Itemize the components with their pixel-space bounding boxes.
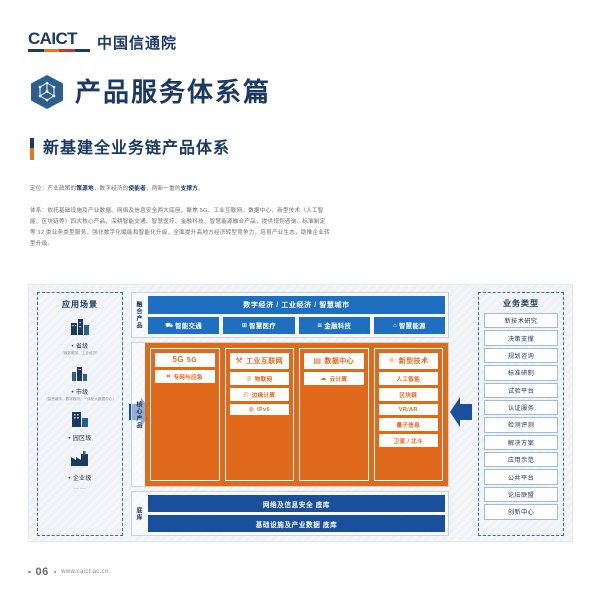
core-band-label: 核心产品 [132, 343, 145, 486]
scenario-label: • 园区级 [68, 433, 91, 442]
core-product-title: 新型技术 [399, 356, 429, 366]
base-band-label: 底库 [132, 492, 145, 535]
core-subitem-4-5[interactable]: 卫星 / 北斗 [379, 434, 439, 447]
page-number: 06 [36, 566, 49, 578]
network-icon: ⌗ [167, 374, 171, 380]
business-types-title: 业务类型 [503, 298, 539, 309]
fusion-button-1[interactable]: ⛟智能交通 [148, 317, 219, 334]
positioning-run-2: ，数字经济的 [94, 186, 129, 192]
fusion-products-band: 融合产品 数字经济 / 工业经济 / 智慧城市 ⛟智能交通⊞智慧医疗≋金融科技⌂… [131, 292, 449, 338]
base-layer-bar-2: 基础设施及产业数据 底库 [148, 515, 445, 532]
finance-icon: ≋ [317, 323, 322, 329]
business-type-item-10[interactable]: 公共平台 [484, 469, 558, 484]
core-subitem-label: VR/AR [399, 407, 418, 413]
business-type-item-3[interactable]: 规划咨询 [484, 348, 558, 363]
core-subitem-label: 区块链 [399, 391, 417, 399]
core-product-header[interactable]: ▤数据中心 [304, 353, 364, 369]
core-product-title: 数据中心 [324, 356, 354, 366]
logo-underline [28, 49, 90, 52]
core-subitem-label: 边缘计算 [252, 391, 276, 399]
section-accent-bar [30, 138, 34, 160]
hospital-icon: ⊞ [242, 323, 247, 329]
positioning-run-6: 。 [198, 186, 204, 192]
tech-node-icon: ⚛ [388, 357, 396, 365]
factory-icon [70, 449, 90, 471]
scenario-note: （政务服务、工业经济） [41, 351, 119, 356]
hexagon-cube-icon [30, 74, 64, 110]
fusion-button-label: 智能交通 [175, 321, 202, 330]
core-subitem-label: 人工智能 [396, 375, 420, 383]
core-subitem-label: 物联网 [255, 375, 273, 383]
paragraph-system: 体系：依托基础设施及产业数据、网络及信息安全两大底座，聚焦 5G、工业互联网、数… [30, 206, 330, 250]
fusion-button-label: 智慧能源 [399, 321, 426, 330]
globe-icon: ◍ [249, 407, 255, 413]
footer-url: www.caict.ac.cn [61, 569, 108, 575]
bar-chart-building-icon [70, 363, 90, 385]
section-title: 新基建全业务链产品体系 [43, 138, 230, 160]
product-system-diagram: 应用场景 • 省级（政务服务、工业经济）• 市级（智慧城市、数字政府、一体化大数… [28, 284, 573, 542]
core-product-column-2: ⚒工业互联网◎物联网◴边缘计算◍IPv6 [225, 348, 295, 481]
fusion-buttons: ⛟智能交通⊞智慧医疗≋金融科技⌂智慧能源 [148, 317, 445, 334]
cloud-icon: ☁ [320, 376, 326, 382]
scenario-label: • 市级 [72, 387, 89, 396]
brand-chinese-name: 中国信通院 [97, 36, 177, 52]
city-buildings-icon [70, 317, 90, 339]
business-type-item-9[interactable]: 应用示范 [484, 452, 558, 467]
fusion-button-4[interactable]: ⌂智慧能源 [374, 317, 445, 334]
robot-arm-icon: ⚒ [235, 357, 243, 365]
scenario-note: （智慧城市、数字政府、一体化大数据中心） [41, 397, 119, 402]
page-title: 产品服务体系篇 [75, 79, 271, 105]
core-subitem-2-1[interactable]: ◎物联网 [230, 372, 290, 385]
scenarios-more: …… [73, 485, 87, 491]
caict-logo-mark: CAICT [28, 30, 90, 52]
core-product-column-3: ▤数据中心☁云计算 [299, 348, 369, 481]
core-product-column-4: ⚛新型技术人工智能区块链VR/AR量子信息卫星 / 北斗 [374, 348, 444, 481]
footer-dot-right-icon [54, 571, 57, 574]
core-subitem-label: 量子信息 [396, 421, 420, 429]
business-type-item-6[interactable]: 认证服务 [484, 400, 558, 415]
core-product-title: 5G [187, 357, 197, 364]
fusion-band-label: 融合产品 [132, 293, 145, 337]
business-type-item-4[interactable]: 标准研制 [484, 365, 558, 380]
scenario-item-3[interactable]: • 园区级 [68, 409, 91, 442]
edge-icon: ◴ [243, 392, 249, 398]
footer-dot-left-icon [28, 571, 31, 574]
core-subitem-label: 卫星 / 北斗 [394, 437, 423, 445]
positioning-run-1: 策源地 [76, 186, 93, 192]
core-subitem-label: 专网与应急 [173, 373, 202, 381]
center-stack: 融合产品 数字经济 / 工业经济 / 智慧城市 ⛟智能交通⊞智慧医疗≋金融科技⌂… [131, 292, 449, 536]
fusion-headline: 数字经济 / 工业经济 / 智慧城市 [148, 296, 445, 314]
business-type-item-2[interactable]: 决策支撑 [484, 330, 558, 345]
core-subitem-label: IPv6 [257, 407, 270, 413]
scenario-item-2[interactable]: • 市级（智慧城市、数字政府、一体化大数据中心） [41, 363, 119, 402]
core-subitem-4-4[interactable]: 量子信息 [379, 418, 439, 431]
fusion-button-3[interactable]: ≋金融科技 [299, 317, 370, 334]
base-layer-band: 底库 网络及信息安全 底库基础设施及产业数据 底库 [131, 491, 449, 536]
positioning-run-4: ，两新一重的 [146, 186, 181, 192]
base-layer-bar-1: 网络及信息安全 底库 [148, 495, 445, 512]
scenario-label: • 企业级 [68, 473, 91, 482]
scenario-label: • 省级 [72, 341, 89, 350]
business-type-item-5[interactable]: 试验平台 [484, 383, 558, 398]
core-subitem-4-3[interactable]: VR/AR [379, 404, 439, 415]
fusion-button-label: 金融科技 [324, 321, 351, 330]
core-subitem-2-3[interactable]: ◍IPv6 [230, 404, 290, 415]
scenario-item-4[interactable]: • 企业级 [68, 449, 91, 482]
page-root: CAICT 中国信通院 [0, 0, 600, 600]
page-title-row: 产品服务体系篇 [30, 74, 271, 110]
business-type-item-8[interactable]: 解决方案 [484, 435, 558, 450]
energy-icon: ⌂ [393, 323, 397, 329]
business-type-item-11[interactable]: 论坛联盟 [484, 487, 558, 502]
core-products-band: 核心产品 5G5G⌗专网与应急⚒工业互联网◎物联网◴边缘计算◍IPv6▤数据中心… [131, 342, 449, 487]
arrow-left-icon [450, 395, 472, 429]
core-product-header[interactable]: ⚛新型技术 [379, 353, 439, 369]
application-scenarios-panel: 应用场景 • 省级（政务服务、工业经济）• 市级（智慧城市、数字政府、一体化大数… [37, 292, 123, 536]
core-product-title: 工业互联网 [246, 356, 283, 366]
brand-acronym: CAICT [28, 30, 90, 47]
positioning-run-3: 使能者 [129, 186, 146, 192]
car-icon: ⛟ [165, 323, 173, 329]
core-subitem-3-1[interactable]: ☁云计算 [304, 372, 364, 385]
paragraph-positioning: 定位：产业政策的策源地，数字经济的使能者，两新一重的支撑方。 [30, 184, 330, 195]
business-type-item-12[interactable]: 创新中心 [484, 504, 558, 519]
scenarios-title: 应用场景 [62, 299, 98, 310]
business-type-item-7[interactable]: 检测评测 [484, 417, 558, 432]
server-icon: ▤ [313, 357, 321, 365]
business-type-item-1[interactable]: 新技术研究 [484, 313, 558, 328]
system-run-0: 体系：依托基础设施及产业数据、网络及信息安全两大底座，聚焦 5G、工业互联网、数… [30, 208, 330, 247]
5g-icon: 5G [172, 356, 183, 364]
core-subitem-1-1[interactable]: ⌗专网与应急 [155, 370, 215, 383]
fusion-button-2[interactable]: ⊞智慧医疗 [223, 317, 294, 334]
positioning-run-5: 支撑方 [181, 186, 198, 192]
core-subitem-4-2[interactable]: 区块链 [379, 388, 439, 401]
page-footer: 06 www.caict.ac.cn [28, 566, 108, 578]
core-subitem-label: 云计算 [330, 375, 348, 383]
core-subitem-4-1[interactable]: 人工智能 [379, 372, 439, 385]
core-product-column-1: 5G5G⌗专网与应急 [150, 348, 220, 481]
park-district-icon [70, 409, 90, 431]
iot-icon: ◎ [246, 376, 252, 382]
fusion-button-label: 智慧医疗 [249, 321, 276, 330]
core-product-header[interactable]: 5G5G [155, 353, 215, 367]
business-types-panel: 业务类型 新技术研究决策支撑规划咨询标准研制试验平台认证服务检测评测解决方案应用… [478, 292, 564, 536]
core-product-header[interactable]: ⚒工业互联网 [230, 353, 290, 369]
scenario-item-1[interactable]: • 省级（政务服务、工业经济） [41, 317, 119, 356]
core-subitem-2-2[interactable]: ◴边缘计算 [230, 388, 290, 401]
positioning-run-0: 定位：产业政策的 [30, 186, 76, 192]
brand-logo: CAICT 中国信通院 [28, 30, 177, 52]
section-title-row: 新基建全业务链产品体系 [30, 138, 230, 160]
